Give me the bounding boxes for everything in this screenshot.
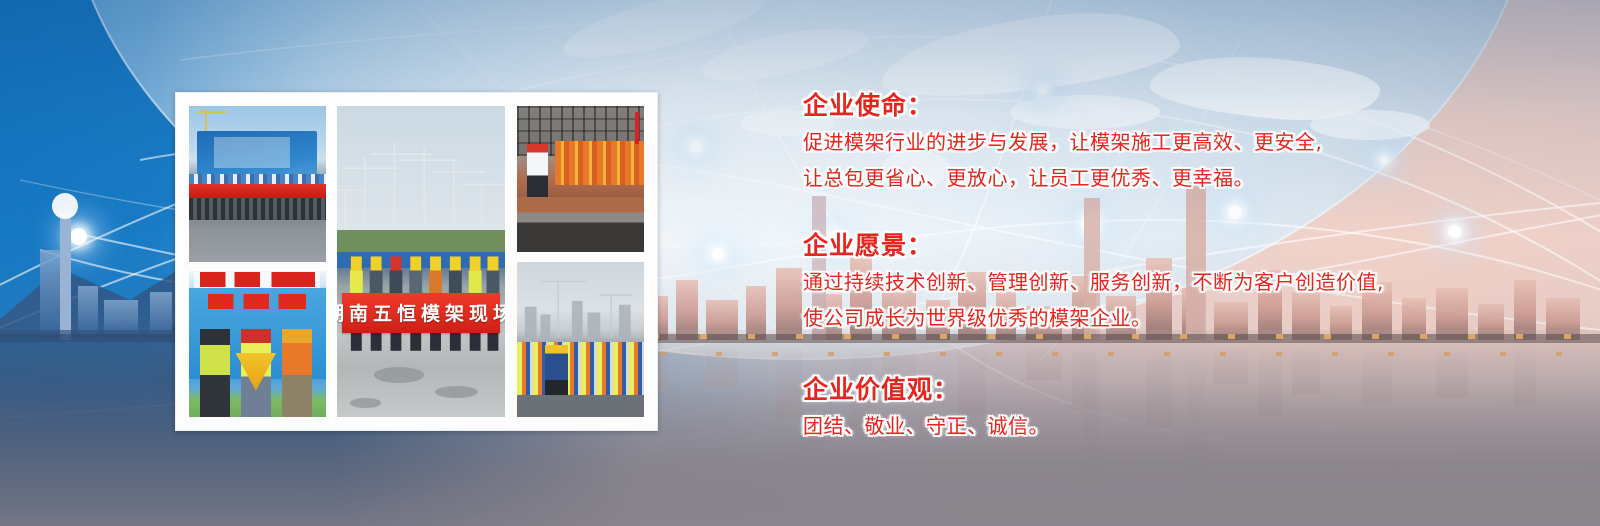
values-heading: 企业价值观：: [803, 370, 959, 406]
collage-grid: 湖南五恒模架现场: [189, 106, 644, 417]
photo-pennant: [189, 271, 326, 417]
mission-line-2: 让总包更省心、更放心，让员工更优秀、更幸福。: [803, 162, 1254, 191]
site-banner-text: 湖南五恒模架现场: [337, 299, 505, 326]
list-item[interactable]: [189, 106, 326, 262]
banner-root: 湖南五恒模架现场: [0, 0, 1600, 526]
mission-heading: 企业使命：: [803, 86, 933, 122]
vision-line-1: 通过持续技术创新、管理创新、服务创新，不断为客户创造价值,: [803, 266, 1384, 295]
list-item[interactable]: [189, 271, 326, 417]
values-line-1: 团结、敬业、守正、诚信。: [803, 410, 1049, 439]
mission-line-1: 促进模架行业的进步与发展，让模架施工更高效、更安全,: [803, 126, 1322, 155]
photo-collage[interactable]: 湖南五恒模架现场: [175, 92, 658, 431]
list-item[interactable]: 湖南五恒模架现场: [337, 106, 505, 417]
photo-site-banner: 湖南五恒模架现场: [337, 106, 505, 417]
list-item[interactable]: [517, 262, 644, 418]
site-banner: 湖南五恒模架现场: [342, 293, 500, 333]
photo-assembly: [517, 262, 644, 418]
vision-heading: 企业愿景：: [803, 226, 933, 262]
vision-line-2: 使公司成长为世界级优秀的模架企业。: [803, 302, 1152, 331]
list-item[interactable]: [517, 106, 644, 252]
photo-briefing: [517, 106, 644, 252]
photo-rally: [189, 106, 326, 262]
